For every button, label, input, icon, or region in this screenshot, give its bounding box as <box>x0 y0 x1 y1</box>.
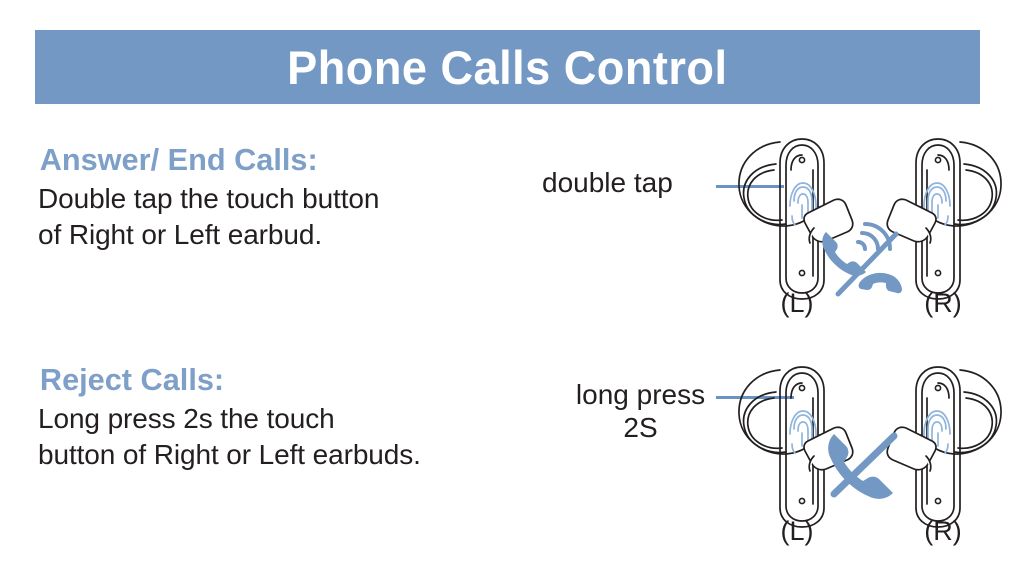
call-reject-icon <box>820 420 908 504</box>
illustration-answer-end-calls: double tap <box>530 128 1020 323</box>
section-heading-answer-end-calls: Answer/ End Calls: <box>40 143 378 178</box>
section-body-reject-calls: Long press 2s the touch button of Right … <box>38 401 421 474</box>
page-title: Phone Calls Control <box>287 44 727 91</box>
illustration-reject-calls: long press 2S <box>530 348 1020 548</box>
section-reject-calls-text: Reject Calls: Long press 2s the touch bu… <box>38 363 421 474</box>
section-answer-end-calls-text: Answer/ End Calls: Double tap the touch … <box>38 143 379 254</box>
earbud-label-left-answer: (L) <box>722 288 872 319</box>
callout-double-tap: double tap <box>542 166 673 199</box>
callout-long-press: long press 2S <box>538 378 743 444</box>
earbud-label-right-answer: (R) <box>868 288 1018 319</box>
phone-calls-control-page: Phone Calls Control Answer/ End Calls: D… <box>0 0 1020 577</box>
section-body-answer-end-calls: Double tap the touch button of Right or … <box>38 181 379 254</box>
call-answer-end-icon <box>816 216 908 298</box>
section-heading-reject-calls: Reject Calls: <box>40 363 419 398</box>
earbud-label-right-reject: (R) <box>868 516 1018 547</box>
earbud-label-left-reject: (L) <box>722 516 872 547</box>
header-bar: Phone Calls Control <box>35 30 980 104</box>
